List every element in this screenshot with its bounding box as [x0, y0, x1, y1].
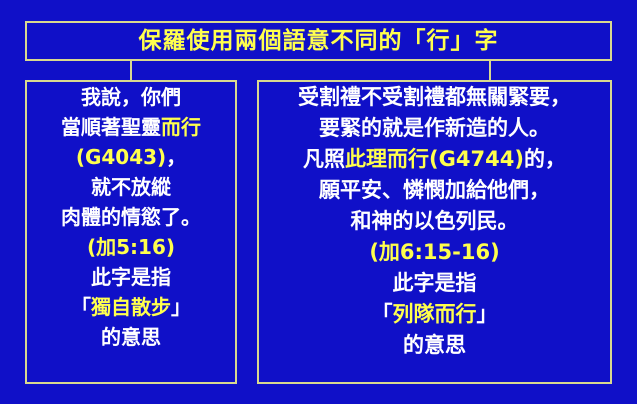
text-line: 的意思	[259, 335, 610, 356]
body-text: 要緊的就是作新造的人。	[319, 116, 550, 140]
body-text: 的意思	[101, 325, 161, 349]
body-text: 此字是指	[393, 271, 477, 295]
highlighted-text: (加5:16)	[87, 235, 175, 259]
slide-canvas: 保羅使用兩個語意不同的「行」字 我說，你們當順著聖靈而行(G4043)，就不放縱…	[0, 0, 637, 404]
body-text: 願平安、憐憫加給他們，	[319, 178, 550, 202]
body-text: 肉體的情慾了。	[61, 205, 201, 229]
text-line: 「獨自散步」	[27, 297, 235, 317]
highlighted-text: 獨自散步	[91, 295, 171, 319]
connector-line-right	[489, 61, 491, 80]
highlighted-text: 而行	[161, 115, 201, 139]
body-text: 此字是指	[91, 265, 171, 289]
text-line: 肉體的情慾了。	[27, 207, 235, 227]
left-content-box: 我說，你們當順著聖靈而行(G4043)，就不放縱肉體的情慾了。(加5:16)此字…	[25, 80, 237, 384]
body-text: 「	[372, 302, 393, 326]
text-line: 受割禮不受割禮都無關緊要，	[259, 87, 610, 108]
body-text: 受割禮不受割禮都無關緊要，	[298, 85, 571, 109]
body-text: 」	[477, 302, 498, 326]
body-text: 和神的以色列民。	[351, 209, 519, 233]
body-text: ，	[166, 145, 186, 169]
text-line: 願平安、憐憫加給他們，	[259, 180, 610, 201]
connector-line-left	[130, 61, 132, 80]
text-line: 「列隊而行」	[259, 304, 610, 325]
body-text: 我說，你們	[81, 85, 181, 109]
body-text: 「	[71, 295, 91, 319]
body-text: 凡照	[303, 147, 345, 171]
text-line: (G4043)，	[27, 147, 235, 167]
title-box: 保羅使用兩個語意不同的「行」字	[25, 21, 612, 61]
page-title: 保羅使用兩個語意不同的「行」字	[139, 30, 499, 53]
text-line: 要緊的就是作新造的人。	[259, 118, 610, 139]
highlighted-text: 此理而行(G4744)	[345, 147, 524, 171]
right-content-box: 受割禮不受割禮都無關緊要，要緊的就是作新造的人。凡照此理而行(G4744)的，願…	[257, 80, 612, 384]
body-text: 當順著聖靈	[61, 115, 161, 139]
body-text: 」	[171, 295, 191, 319]
text-line: 我說，你們	[27, 87, 235, 107]
highlighted-text: (加6:15-16)	[369, 240, 499, 264]
text-line: 此字是指	[27, 267, 235, 287]
text-line: 的意思	[27, 327, 235, 347]
body-text: 的意思	[403, 333, 466, 357]
text-line: 和神的以色列民。	[259, 211, 610, 232]
text-line: 當順著聖靈而行	[27, 117, 235, 137]
text-line: (加5:16)	[27, 237, 235, 257]
highlighted-text: (G4043)	[76, 145, 166, 169]
body-text: 就不放縱	[91, 175, 171, 199]
text-line: (加6:15-16)	[259, 242, 610, 263]
text-line: 凡照此理而行(G4744)的，	[259, 149, 610, 170]
text-line: 此字是指	[259, 273, 610, 294]
highlighted-text: 列隊而行	[393, 302, 477, 326]
text-line: 就不放縱	[27, 177, 235, 197]
body-text: 的，	[524, 147, 566, 171]
